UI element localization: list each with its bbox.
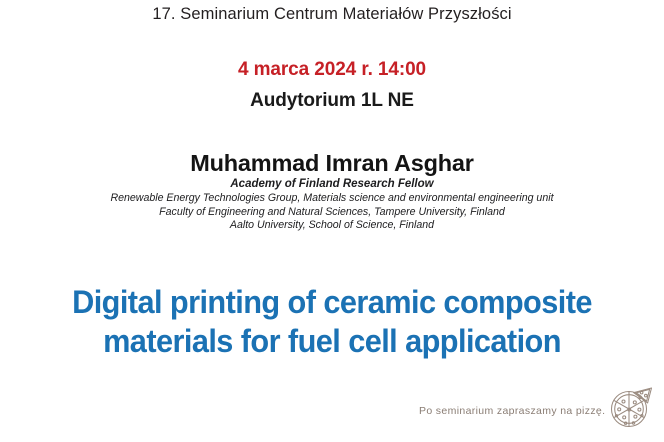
event-venue: Audytorium 1L NE (0, 89, 664, 112)
seminar-poster: 17. Seminarium Centrum Materiałów Przysz… (0, 0, 664, 442)
speaker-name: Muhammad Imran Asghar (0, 150, 664, 177)
talk-title-line-2: materials for fuel cell application (27, 322, 638, 361)
pizza-icon (606, 379, 656, 431)
speaker-role: Academy of Finland Research Fellow (0, 177, 664, 191)
talk-title: Digital printing of ceramic composite ma… (14, 283, 650, 361)
affiliation-line: Aalto University, School of Science, Fin… (0, 219, 664, 233)
affiliation-line: Faculty of Engineering and Natural Scien… (0, 206, 664, 220)
seminar-series-header: 17. Seminarium Centrum Materiałów Przysz… (0, 4, 664, 24)
pizza-invitation-text: Po seminarium zapraszamy na pizzę. (419, 404, 605, 418)
speaker-affiliations: Renewable Energy Technologies Group, Mat… (0, 192, 664, 233)
talk-title-line-1: Digital printing of ceramic composite (27, 283, 638, 322)
affiliation-line: Renewable Energy Technologies Group, Mat… (0, 192, 664, 206)
event-date-time: 4 marca 2024 r. 14:00 (0, 58, 664, 81)
